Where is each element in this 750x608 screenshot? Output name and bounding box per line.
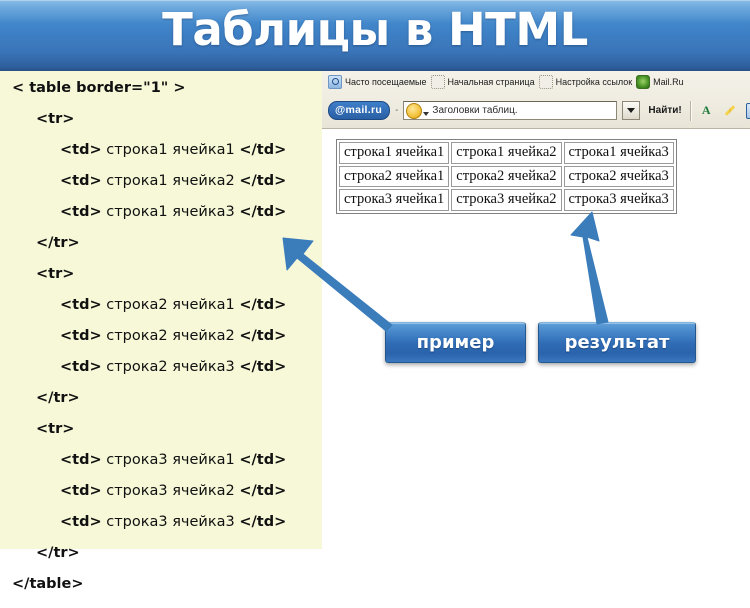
code-tag: <tr> [36,111,74,127]
code-tag: <tr> [36,421,74,437]
table-cell: строка1 ячейка2 [451,142,561,164]
code-tag: </tr> [36,390,80,406]
browser-screenshot-panel: Часто посещаемые Начальная страница Наст… [322,71,750,549]
mailru-logo[interactable]: @mail.ru [328,101,390,120]
page-title: Таблицы в HTML [0,3,750,56]
code-line: <td> строка1 ячейка1 </td> [8,143,322,174]
search-input[interactable]: Заголовки таблиц. [403,101,617,120]
code-line: </tr> [8,391,322,422]
code-tag-close: </td> [239,483,286,499]
code-line: <td> строка3 ячейка1 </td> [8,453,322,484]
code-tag-close: </td> [239,297,286,313]
rendered-html-table: строка1 ячейка1строка1 ячейка2строка1 яч… [336,139,677,214]
code-text: строка3 ячейка3 [102,514,240,530]
bookmark-label: Начальная страница [448,77,535,87]
code-tag: <td> [60,328,102,344]
code-line: <td> строка3 ячейка3 </td> [8,515,322,546]
code-line: <td> строка2 ячейка2 </td> [8,329,322,360]
code-tag-close: </td> [239,359,286,375]
toolbar-divider: - [395,105,398,116]
code-line: <td> строка1 ячейка3 </td> [8,205,322,236]
table-cell: строка3 ячейка2 [451,189,561,211]
code-line: <td> строка1 ячейка2 </td> [8,174,322,205]
mailru-search-toolbar[interactable]: @mail.ru - Заголовки таблиц. Найти! A П [322,94,750,127]
code-example-panel: < table border="1" ><tr><td> строка1 яче… [0,71,322,549]
browser-toolbars: Часто посещаемые Начальная страница Наст… [322,71,750,129]
code-tag: <td> [60,173,102,189]
callout-example[interactable]: пример [385,322,526,363]
table-cell: строка1 ячейка1 [339,142,449,164]
bookmark-label: Mail.Ru [653,77,684,87]
code-text: строка1 ячейка1 [102,142,240,158]
callout-example-label: пример [417,332,495,353]
bookmark-label: Настройка ссылок [556,77,633,87]
table-cell: строка1 ячейка3 [564,142,674,164]
code-tag: <td> [60,297,102,313]
table-cell: строка3 ячейка1 [339,189,449,211]
code-tag: </tr> [36,235,80,251]
code-text: строка3 ячейка1 [102,452,240,468]
code-tag-close: </td> [239,142,286,158]
code-text: строка3 ячейка2 [102,483,240,499]
table-cell: строка2 ячейка3 [564,166,674,188]
code-tag: <tr> [36,266,74,282]
code-line: </tr> [8,236,322,267]
code-tag-close: </td> [239,328,286,344]
blank-page-icon [539,75,553,89]
code-line: <td> строка2 ячейка1 </td> [8,298,322,329]
search-history-dropdown-button[interactable] [622,101,640,120]
bookmark-mailru[interactable]: Mail.Ru [636,75,684,89]
code-line: <td> строка3 ячейка2 </td> [8,484,322,515]
camera-snapshot-icon[interactable] [745,101,750,120]
code-tag: <td> [60,142,102,158]
code-tag-close: </td> [239,452,286,468]
table-cell: строка2 ячейка1 [339,166,449,188]
code-text: строка1 ячейка2 [102,173,240,189]
code-line: <tr> [8,267,322,298]
code-tag: </table> [12,576,84,592]
code-tag-close: </td> [239,514,286,530]
pencil-highlighter-icon[interactable] [721,101,740,120]
code-text: строка2 ячейка1 [102,297,240,313]
bookmark-frequently-visited[interactable]: Часто посещаемые [328,75,427,89]
table-row: строка3 ячейка1строка3 ячейка2строка3 яч… [339,189,674,211]
code-tag: <td> [60,204,102,220]
table-body: строка1 ячейка1строка1 ячейка2строка1 яч… [339,142,674,211]
chevron-down-icon [627,108,635,113]
frequently-visited-icon [328,75,342,89]
code-line: </table> [8,577,322,608]
code-tag-close: </td> [239,204,286,220]
code-text: строка2 ячейка2 [102,328,240,344]
bookmark-links-settings[interactable]: Настройка ссылок [539,75,633,89]
callout-result-label: результат [565,332,670,353]
bookmark-home-page[interactable]: Начальная страница [431,75,535,89]
table-cell: строка3 ячейка3 [564,189,674,211]
blank-page-icon [431,75,445,89]
code-line: < table border="1" > [8,81,322,112]
code-tag: <td> [60,483,102,499]
code-tag: <td> [60,359,102,375]
translate-icon[interactable]: A [697,101,716,120]
chevron-down-icon[interactable] [423,112,429,116]
code-line: <tr> [8,112,322,143]
code-tag: <td> [60,514,102,530]
title-banner: Таблицы в HTML [0,0,750,71]
code-tag-close: </td> [239,173,286,189]
bookmark-label: Часто посещаемые [345,77,427,87]
table-cell: строка2 ячейка2 [451,166,561,188]
bookmarks-bar[interactable]: Часто посещаемые Начальная страница Наст… [322,71,750,93]
code-tag: </tr> [36,545,80,561]
toolbar-separator [690,101,692,121]
search-input-value: Заголовки таблиц. [432,105,616,116]
mailru-globe-icon [636,75,650,89]
code-text: строка2 ячейка3 [102,359,240,375]
code-tag: <td> [60,452,102,468]
table-row: строка1 ячейка1строка1 ячейка2строка1 яч… [339,142,674,164]
code-tag: < table border="1" > [12,80,186,96]
search-magnifier-icon [406,103,422,119]
code-line: </tr> [8,546,322,577]
find-button[interactable]: Найти! [645,105,684,116]
table-row: строка2 ячейка1строка2 ячейка2строка2 яч… [339,166,674,188]
code-line: <tr> [8,422,322,453]
callout-result[interactable]: результат [538,322,696,363]
code-text: строка1 ячейка3 [102,204,240,220]
code-line: <td> строка2 ячейка3 </td> [8,360,322,391]
